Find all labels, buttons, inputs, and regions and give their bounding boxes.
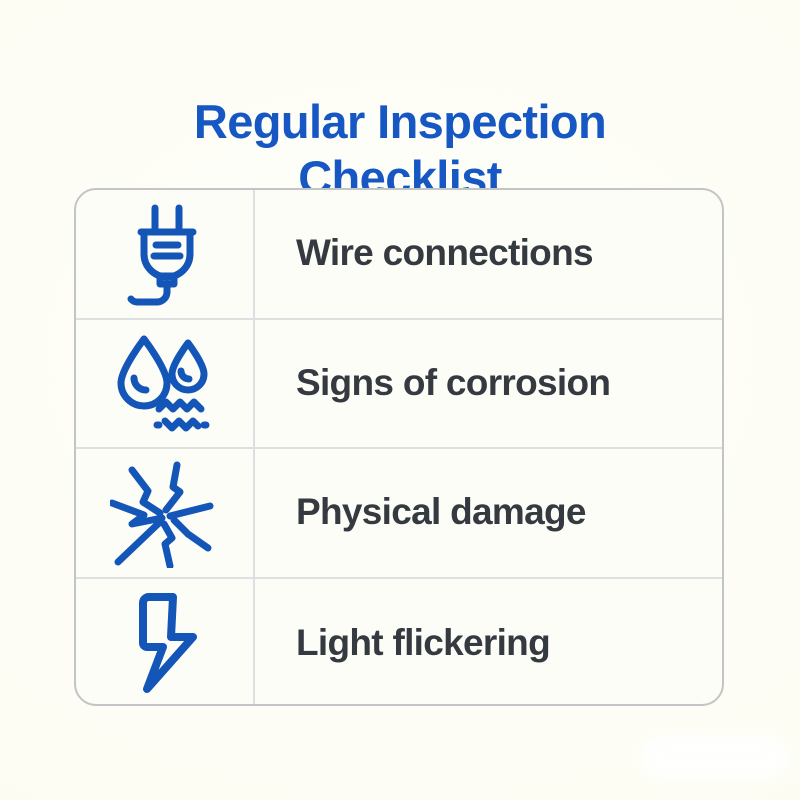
checklist-row-label: Signs of corrosion [255, 363, 722, 404]
checklist-row-label: Light flickering [255, 623, 722, 664]
lightning-bolt-icon [76, 579, 255, 707]
background-smudge [640, 735, 790, 780]
crack-icon [76, 449, 255, 577]
water-droplets-icon [76, 320, 255, 448]
checklist-row[interactable]: Signs of corrosion [76, 320, 722, 450]
checklist-row[interactable]: Physical damage [76, 449, 722, 579]
checklist-card: Wire connections Signs of corrosion [74, 188, 724, 706]
checklist-row[interactable]: Wire connections [76, 190, 722, 320]
infographic-page: Regular Inspection Checklist [0, 0, 800, 800]
checklist-row[interactable]: Light flickering [76, 579, 722, 707]
checklist-row-label: Wire connections [255, 233, 722, 274]
checklist-row-label: Physical damage [255, 492, 722, 533]
page-title-line-1: Regular Inspection [0, 94, 800, 149]
power-plug-icon [76, 190, 255, 318]
